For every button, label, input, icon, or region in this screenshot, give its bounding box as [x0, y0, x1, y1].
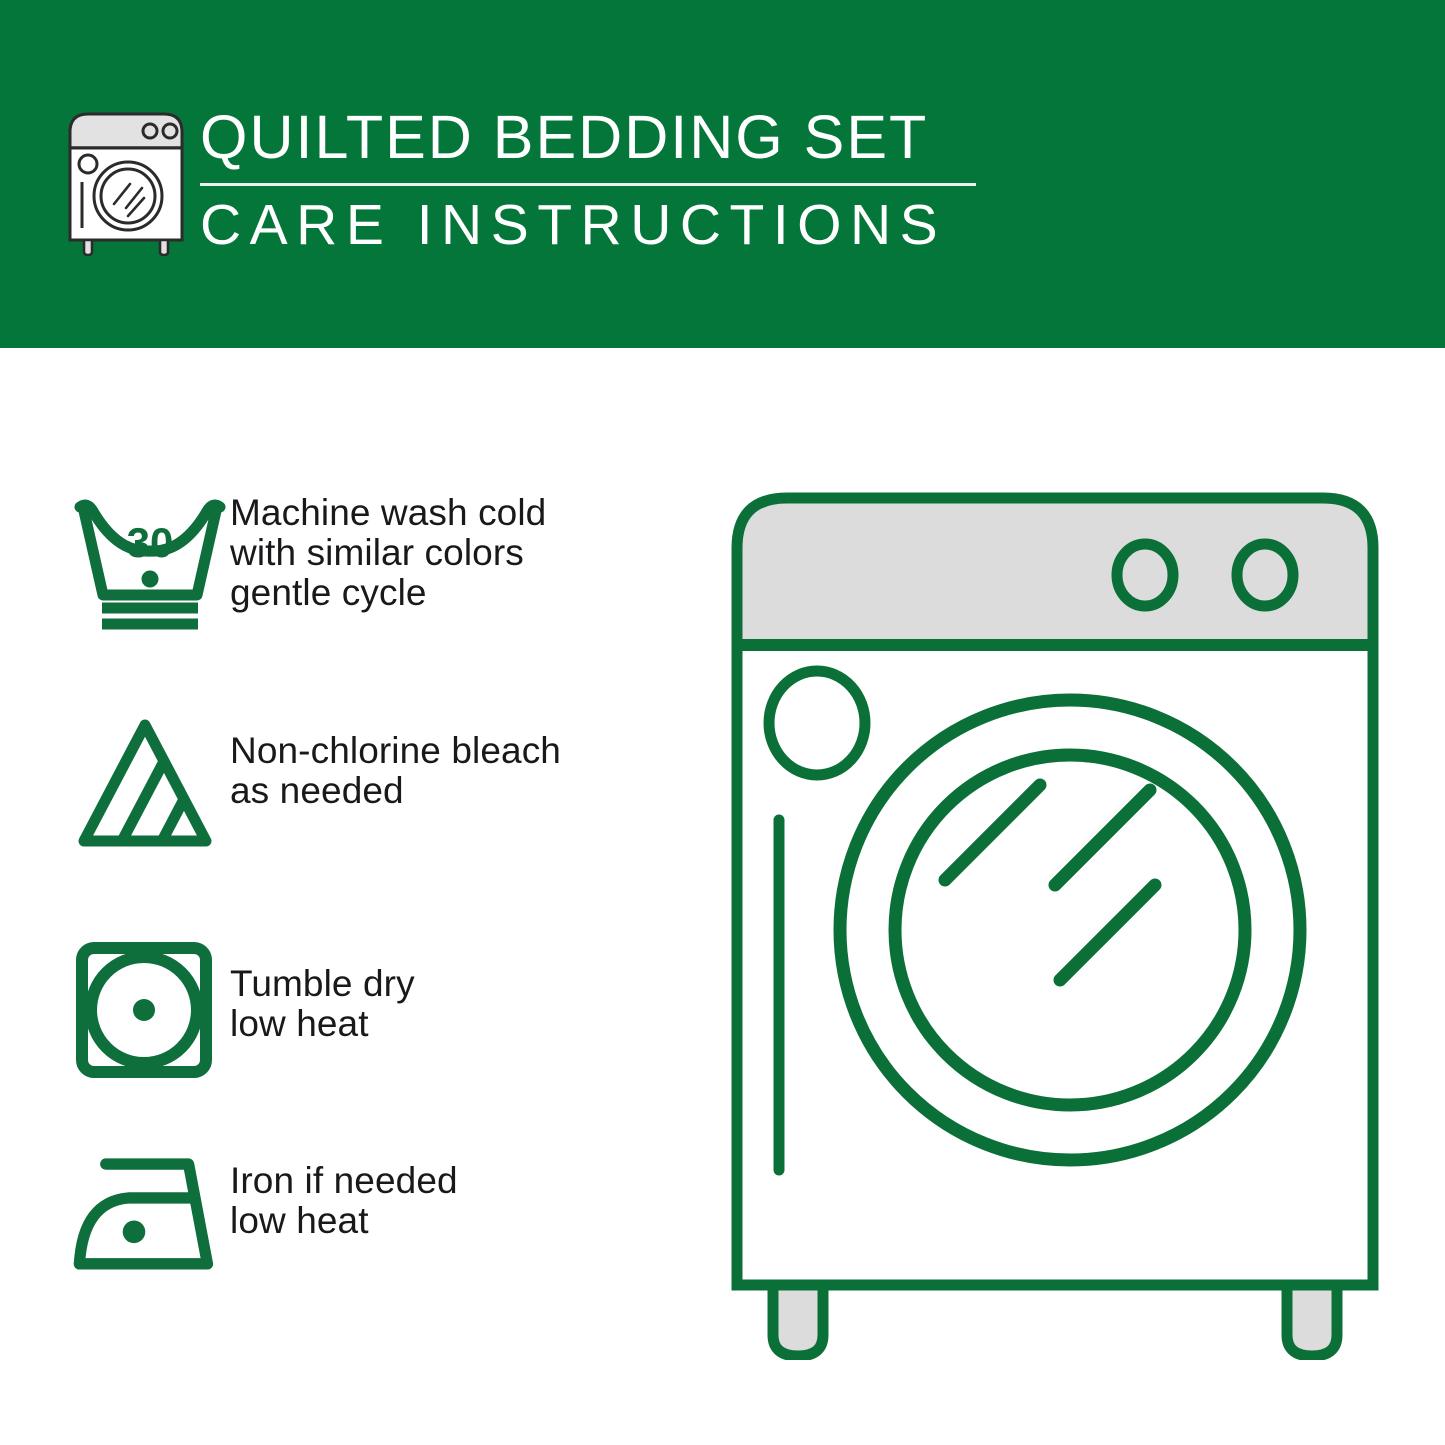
care-instruction-text: Machine wash cold with similar colors ge… — [230, 491, 700, 613]
care-row: Non-chlorine bleach as needed — [0, 713, 700, 853]
wash-temperature-label: 30 — [127, 519, 174, 566]
care-row: Tumble dry low heat — [0, 940, 700, 1080]
care-row: Iron if needed low heat — [0, 1143, 700, 1283]
iron-low-heat-icon — [0, 1143, 230, 1283]
bleach-triangle-non-chlorine-icon — [0, 713, 230, 853]
washing-machine-icon — [62, 104, 190, 256]
header-banner: QUILTED BEDDING SET CARE INSTRUCTIONS — [0, 0, 1445, 348]
wash-tub-30-gentle-icon: 30 — [0, 491, 230, 631]
title-divider — [200, 183, 976, 186]
knob-left — [1117, 544, 1173, 606]
knob-right — [1237, 544, 1293, 606]
front-load-washing-machine-illustration — [705, 470, 1405, 1360]
tumble-dry-low-heat-icon — [0, 940, 230, 1080]
leg-left — [773, 1285, 823, 1356]
header-text-block: QUILTED BEDDING SET CARE INSTRUCTIONS — [200, 104, 990, 256]
care-row: 30 Machine wash cold with similar colors… — [0, 491, 700, 631]
care-instruction-list: 30 Machine wash cold with similar colors… — [0, 348, 700, 1445]
care-instructions-page: QUILTED BEDDING SET CARE INSTRUCTIONS 30 — [0, 0, 1445, 1445]
dispenser-circle — [769, 671, 865, 775]
care-instruction-text: Iron if needed low heat — [230, 1143, 700, 1241]
care-instruction-text: Tumble dry low heat — [230, 940, 700, 1044]
page-subtitle: CARE INSTRUCTIONS — [200, 194, 990, 256]
page-title: QUILTED BEDDING SET — [200, 104, 990, 170]
care-instruction-text: Non-chlorine bleach as needed — [230, 713, 700, 811]
door-inner-ring — [895, 755, 1245, 1105]
leg-right — [1287, 1285, 1337, 1356]
